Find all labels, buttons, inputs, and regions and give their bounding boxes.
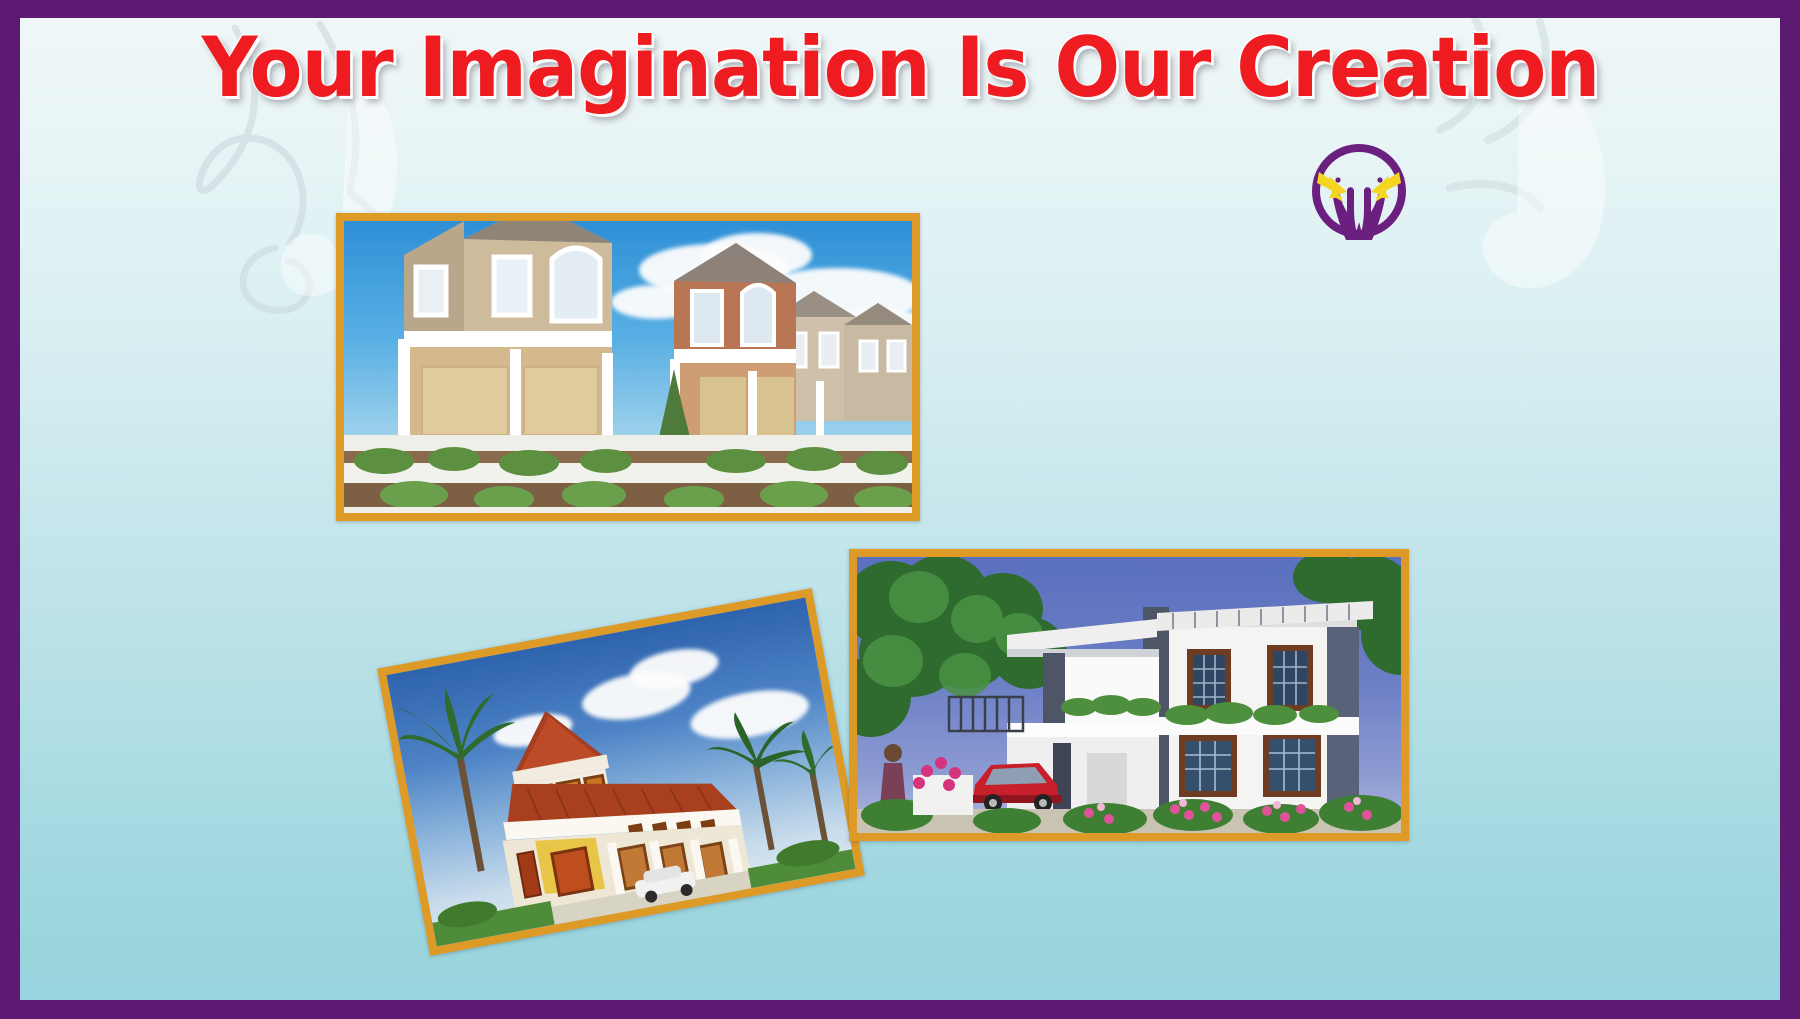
slide-title: Your Imagination Is Our Creation bbox=[20, 24, 1780, 111]
company-logo bbox=[1303, 136, 1415, 240]
title-text: Your Imagination Is Our Creation bbox=[201, 24, 1599, 111]
townhouse-row-art bbox=[344, 221, 912, 513]
photo-modern-villa-image bbox=[857, 557, 1401, 833]
photo-townhouses[interactable] bbox=[336, 213, 920, 521]
photo-townhouses-image bbox=[344, 221, 912, 513]
slide-canvas: Your Imagination Is Our Creation bbox=[20, 18, 1780, 1000]
kerala-villa-art bbox=[386, 597, 855, 946]
photo-modern-villa[interactable] bbox=[849, 549, 1409, 841]
slide-root: Your Imagination Is Our Creation bbox=[0, 0, 1800, 1019]
photo-kerala-villa-image bbox=[386, 597, 855, 946]
photo-kerala-villa[interactable] bbox=[377, 588, 865, 956]
modern-villa-art bbox=[857, 557, 1401, 833]
